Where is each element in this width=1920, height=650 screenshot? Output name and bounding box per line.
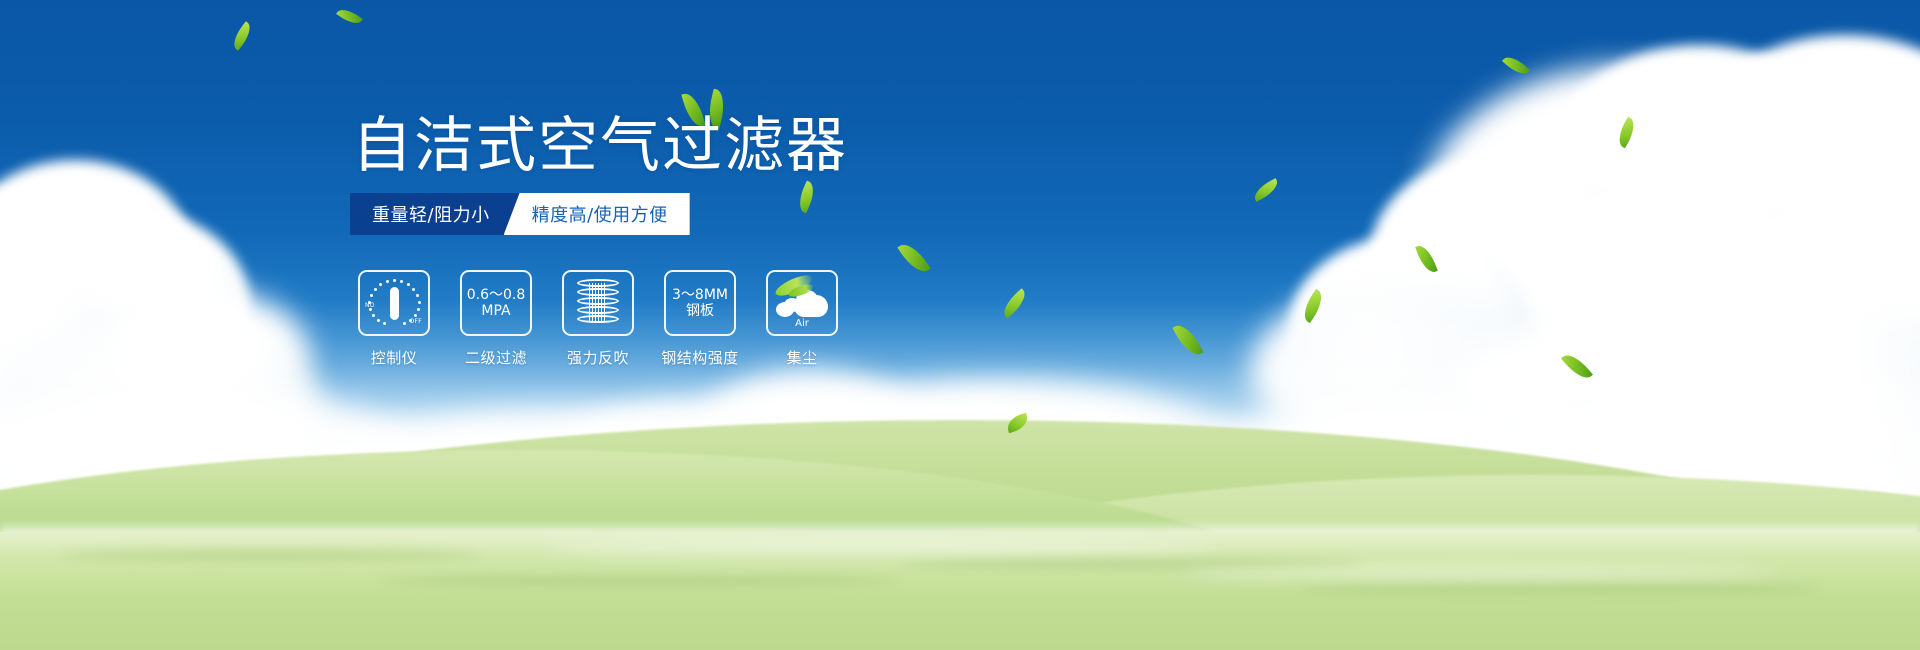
cloud-air-icon: Air (774, 280, 830, 326)
banner-content: 自洁式空气过滤器 重量轻/阻力小 精度高/使用方便 NO OFF (0, 0, 1920, 650)
coil-icon (577, 279, 619, 327)
air-label: Air (774, 318, 830, 329)
feature-caption: 二级过滤 (465, 347, 527, 368)
feature-icon-box: 0.6～0.8 MPA (460, 270, 532, 336)
tagline-group: 重量轻/阻力小 精度高/使用方便 (350, 193, 690, 235)
feature-item-pressure[interactable]: 0.6～0.8 MPA 二级过滤 (460, 270, 532, 368)
gauge-icon: NO OFF (366, 278, 422, 328)
feature-caption: 强力反吹 (567, 347, 629, 368)
feature-list: NO OFF (358, 270, 838, 368)
feature-caption: 集尘 (786, 347, 817, 368)
feature-caption: 钢结构强度 (661, 347, 739, 368)
steel-text-icon: 3～8MM 钢板 (672, 287, 728, 319)
feature-item-steel[interactable]: 3～8MM 钢板 钢结构强度 (664, 270, 736, 368)
feature-item-blowback[interactable]: 强力反吹 (562, 270, 634, 368)
pressure-text-icon: 0.6～0.8 MPA (467, 287, 526, 319)
tagline-secondary: 精度高/使用方便 (504, 193, 690, 235)
feature-icon-box: Air (766, 270, 838, 336)
feature-item-controller[interactable]: NO OFF (358, 270, 430, 368)
product-banner: 自洁式空气过滤器 重量轻/阻力小 精度高/使用方便 NO OFF (0, 0, 1920, 650)
feature-icon-box: 3～8MM 钢板 (664, 270, 736, 336)
feature-icon-box: NO OFF (358, 270, 430, 336)
page-title: 自洁式空气过滤器 (352, 116, 848, 176)
feature-caption: 控制仪 (371, 347, 418, 368)
feature-icon-box (562, 270, 634, 336)
tagline-primary: 重量轻/阻力小 (350, 193, 520, 235)
feature-item-dust[interactable]: Air 集尘 (766, 270, 838, 368)
